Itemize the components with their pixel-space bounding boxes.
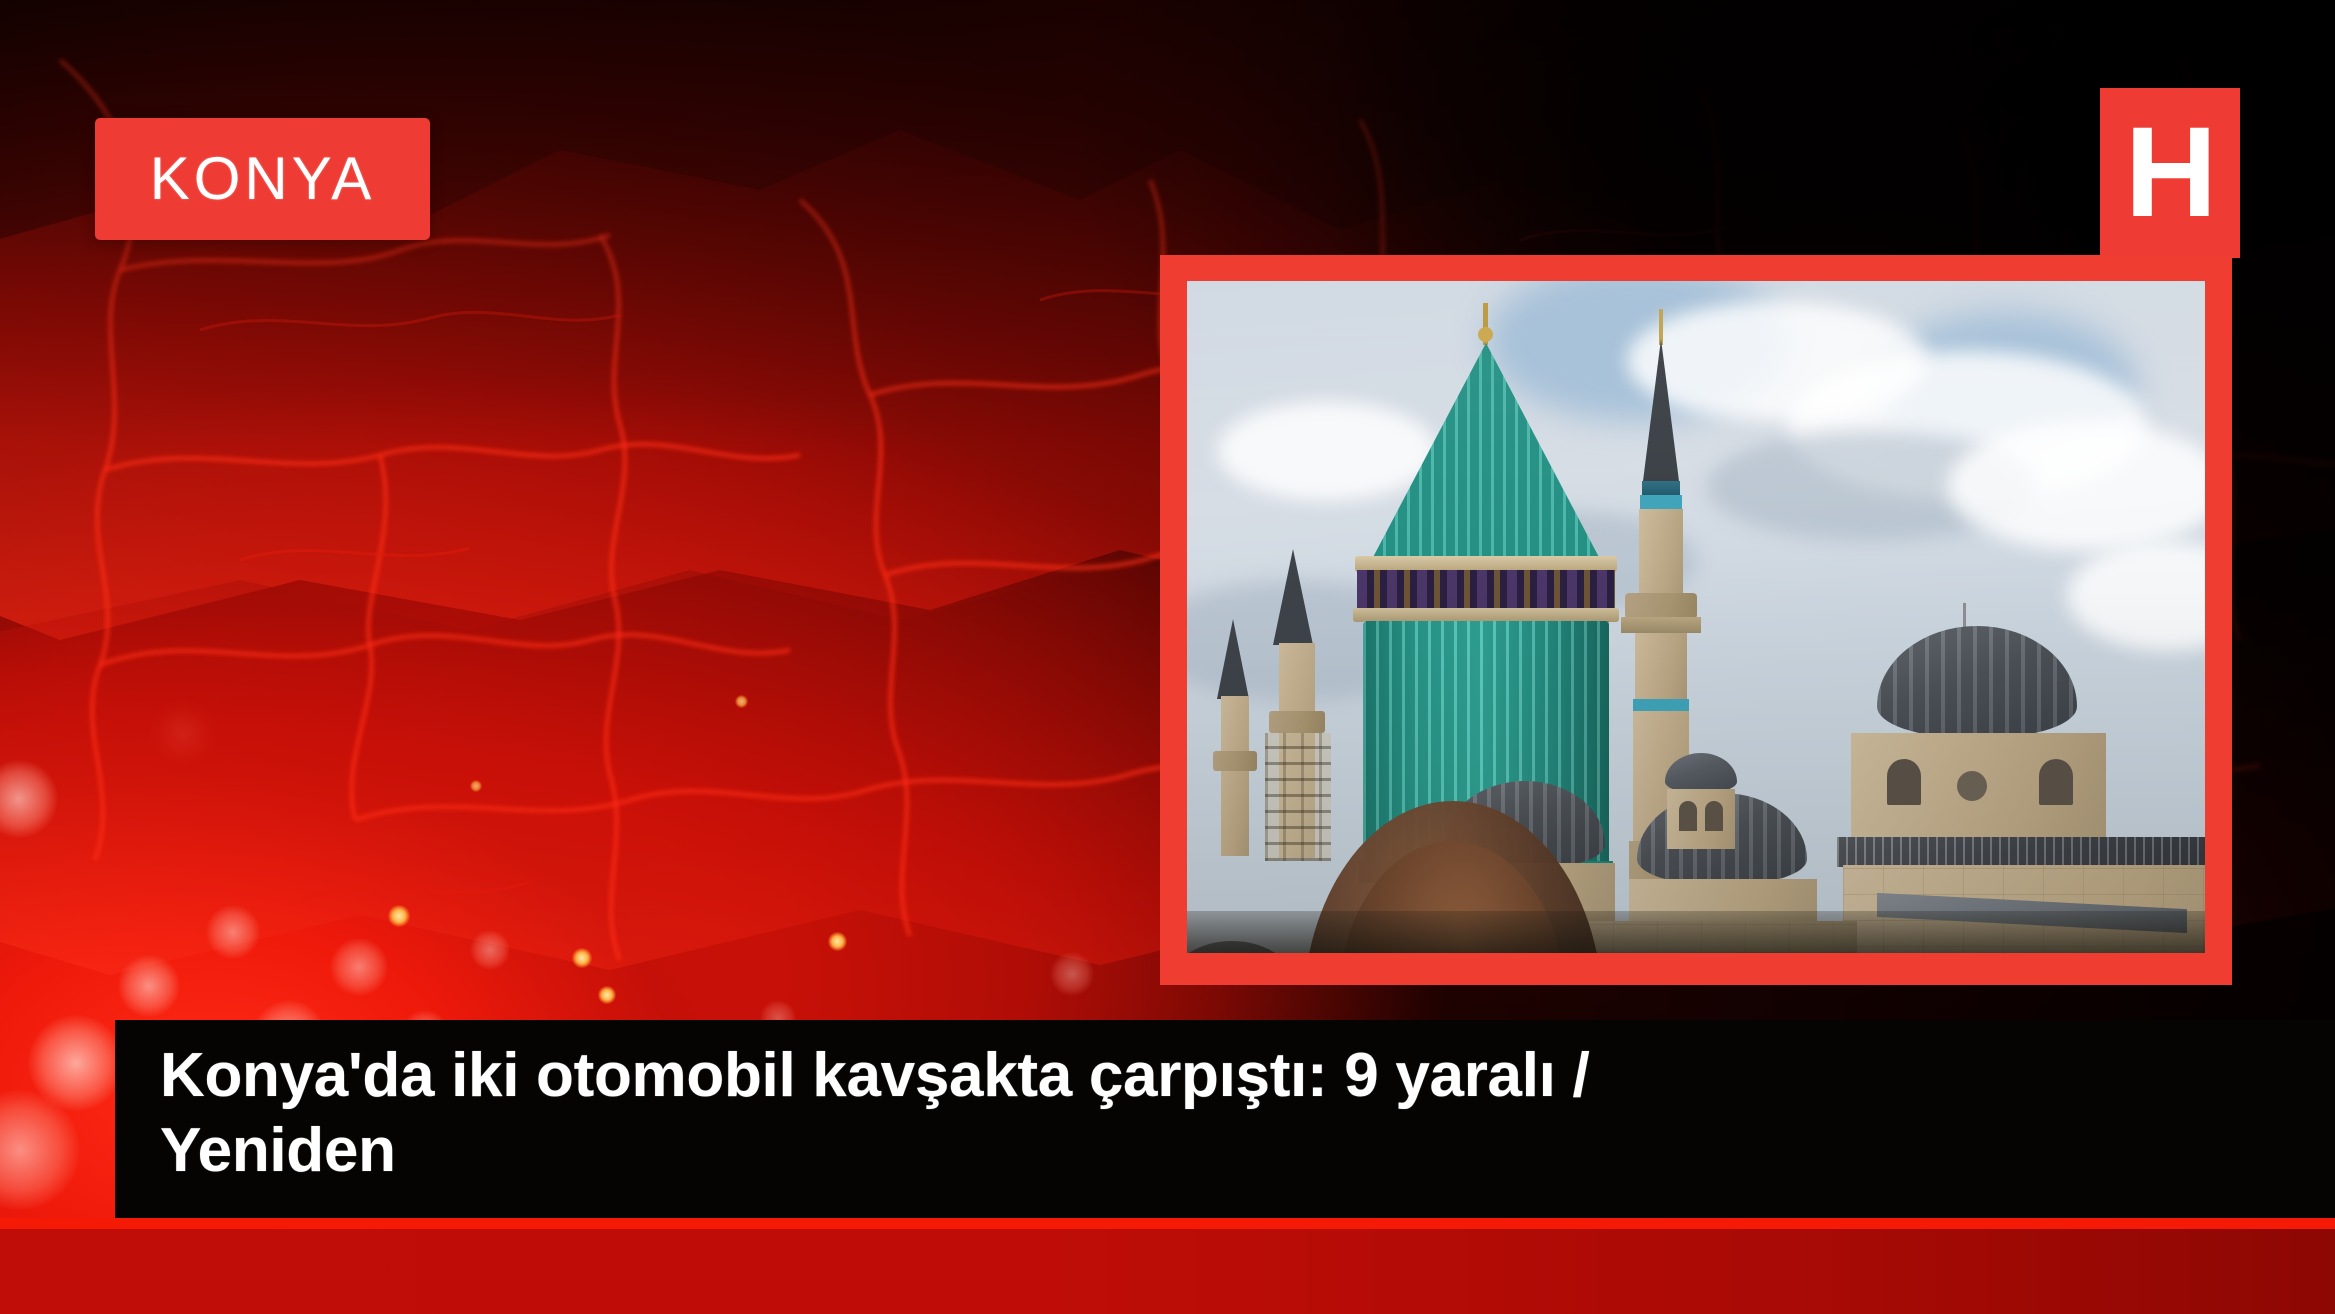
city-badge-label: KONYA bbox=[150, 149, 376, 209]
headline-band: Konya'da iki otomobil kavşakta çarpıştı:… bbox=[115, 1020, 2335, 1218]
news-card-canvas: KONYA H bbox=[0, 0, 2335, 1314]
city-badge: KONYA bbox=[95, 118, 430, 240]
haberturk-logo-letter: H bbox=[2125, 109, 2215, 237]
haberturk-logo[interactable]: H bbox=[2100, 88, 2240, 258]
photo-card bbox=[1160, 255, 2232, 985]
headline-line-1: Konya'da iki otomobil kavşakta çarpıştı:… bbox=[160, 1041, 1589, 1110]
headline-line-2: Yeniden bbox=[160, 1116, 396, 1185]
mevlana-museum-photo bbox=[1187, 281, 2205, 953]
bottom-strip bbox=[0, 1229, 2335, 1314]
headline-text: Konya'da iki otomobil kavşakta çarpıştı:… bbox=[160, 1038, 2160, 1188]
accent-rule bbox=[0, 1218, 2335, 1229]
